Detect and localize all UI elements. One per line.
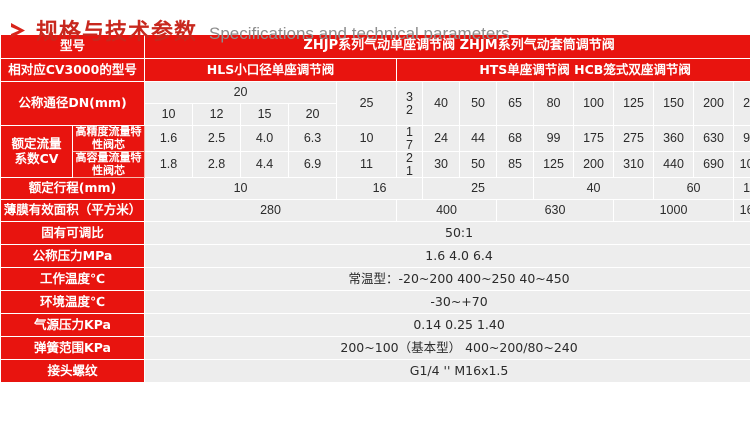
cv-hp-150: 360 [654,126,694,152]
nominal-pressure-value: 1.6 4.0 6.4 [145,245,750,268]
air-supply-value: 0.14 0.25 1.40 [145,314,750,337]
cv-hc-10: 1.8 [145,152,193,178]
dn-40: 40 [423,82,460,126]
dn-32: 32 [397,82,423,126]
cv-hp-25: 10 [337,126,397,152]
stroke-40: 40 [534,178,654,200]
table-row-dn-group: 公称通径DN(mm) 20 25 32 40 50 65 80 100 125 … [1,82,750,104]
cv-hc-80: 125 [534,152,574,178]
spec-page: 规格与技术参数 Specifications and technical par… [0,0,750,432]
cv-hp-125: 275 [614,126,654,152]
thread-value: G1/4 '' M16x1.5 [145,360,750,383]
table-row-cv-high-precision: 额定流量 系数CV 高精度流量特性阀芯 1.6 2.5 4.0 6.3 10 1… [1,126,750,152]
page-title-bar: 规格与技术参数 Specifications and technical par… [0,0,750,34]
cv-high-capacity-label: 高容量流量特性阀芯 [73,152,145,178]
cv-hc-12: 2.8 [193,152,241,178]
cv-hp-20: 6.3 [289,126,337,152]
row-label-rangeability: 固有可调比 [1,222,145,245]
row-label-ambient-temp: 环境温度℃ [1,291,145,314]
dn-sub-20: 20 [289,104,337,126]
row-label-diaphragm: 薄膜有效面积（平方米） [1,200,145,222]
cv-hc-200: 690 [694,152,734,178]
cv-hc-32: 21 [397,152,423,178]
row-label-nominal-pressure: 公称压力MPa [1,245,145,268]
cv-hp-12: 2.5 [193,126,241,152]
cv3000-hts: HTS单座调节阀 HCB笼式双座调节阀 [397,59,750,82]
diaphragm-630: 630 [497,200,614,222]
row-label-cv3000: 相对应CV3000的型号 [1,59,145,82]
working-temp-value: 常温型：-20~200 400~250 40~450 [145,268,750,291]
dn-65: 65 [497,82,534,126]
table-row-nominal-pressure: 公称压力MPa 1.6 4.0 6.4 [1,245,750,268]
dn-125: 125 [614,82,654,126]
cv-hc-65: 85 [497,152,534,178]
cv-hp-80: 99 [534,126,574,152]
table-row-cv3000: 相对应CV3000的型号 HLS小口径单座调节阀 HTS单座调节阀 HCB笼式双… [1,59,750,82]
specifications-table: 型号 ZHJP系列气动单座调节阀 ZHJM系列气动套筒调节阀 相对应CV3000… [0,34,750,383]
cv-hp-200: 630 [694,126,734,152]
diaphragm-1000: 1000 [614,200,734,222]
table-row-rangeability: 固有可调比 50:1 [1,222,750,245]
dn-25: 25 [337,82,397,126]
cv-hc-40: 30 [423,152,460,178]
stroke-60: 60 [654,178,734,200]
row-label-air-supply: 气源压力KPa [1,314,145,337]
diaphragm-400: 400 [397,200,497,222]
stroke-100: 100 [734,178,750,200]
table-row-air-supply: 气源压力KPa 0.14 0.25 1.40 [1,314,750,337]
table-row-spring-range: 弹簧范围KPa 200~100（基本型） 400~200/80~240 [1,337,750,360]
cv-hc-15: 4.4 [241,152,289,178]
table-row-stroke: 额定行程(mm) 10 16 25 40 60 100 [1,178,750,200]
dn-150: 150 [654,82,694,126]
table-row-cv-high-capacity: 高容量流量特性阀芯 1.8 2.8 4.4 6.9 11 21 30 50 85… [1,152,750,178]
cv-hc-125: 310 [614,152,654,178]
cv-hp-15: 4.0 [241,126,289,152]
dn-250: 250 [734,82,750,126]
dn-100: 100 [574,82,614,126]
row-label-cv-line1: 额定流量 [3,137,70,151]
cv-hc-150: 440 [654,152,694,178]
chevron-right-icon [8,20,30,42]
dn-sub-12: 12 [193,104,241,126]
diaphragm-280: 280 [145,200,397,222]
cv-high-precision-label: 高精度流量特性阀芯 [73,126,145,152]
stroke-10: 10 [145,178,337,200]
dn-group-20: 20 [145,82,337,104]
cv-hp-250: 900 [734,126,750,152]
cv-hp-10: 1.6 [145,126,193,152]
row-label-stroke: 额定行程(mm) [1,178,145,200]
cv-hp-32: 17 [397,126,423,152]
row-label-cv: 额定流量 系数CV [1,126,73,178]
row-label-dn: 公称通径DN(mm) [1,82,145,126]
dn-200: 200 [694,82,734,126]
cv-hc-50: 50 [460,152,497,178]
cv-hc-100: 200 [574,152,614,178]
cv-hc-25: 11 [337,152,397,178]
row-label-spring-range: 弹簧范围KPa [1,337,145,360]
table-row-thread: 接头螺纹 G1/4 '' M16x1.5 [1,360,750,383]
stroke-25: 25 [423,178,534,200]
spring-range-value: 200~100（基本型） 400~200/80~240 [145,337,750,360]
table-row-diaphragm: 薄膜有效面积（平方米） 280 400 630 1000 1600 [1,200,750,222]
cv-hp-65: 68 [497,126,534,152]
row-label-working-temp: 工作温度℃ [1,268,145,291]
dn-sub-10: 10 [145,104,193,126]
table-row-ambient-temp: 环境温度℃ -30~+70 [1,291,750,314]
cv-hp-100: 175 [574,126,614,152]
ambient-temp-value: -30~+70 [145,291,750,314]
cv3000-hls: HLS小口径单座调节阀 [145,59,397,82]
cv-hp-40: 24 [423,126,460,152]
cv-hc-20: 6.9 [289,152,337,178]
dn-50: 50 [460,82,497,126]
rangeability-value: 50:1 [145,222,750,245]
diaphragm-1600: 1600 [734,200,750,222]
dn-sub-15: 15 [241,104,289,126]
stroke-16: 16 [337,178,423,200]
dn-80: 80 [534,82,574,126]
cv-hc-250: 1000 [734,152,750,178]
table-row-working-temp: 工作温度℃ 常温型：-20~200 400~250 40~450 [1,268,750,291]
cv-hp-50: 44 [460,126,497,152]
row-label-thread: 接头螺纹 [1,360,145,383]
row-label-cv-line2: 系数CV [3,152,70,166]
